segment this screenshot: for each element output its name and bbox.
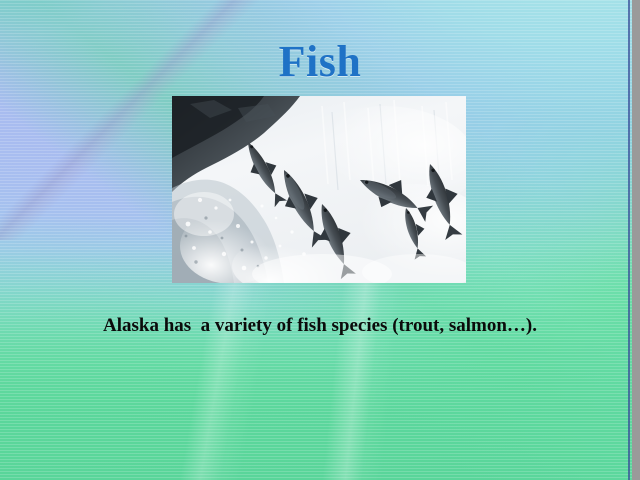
salmon-waterfall-illustration [172,96,466,283]
background-vertical-streaks [0,270,640,480]
slide-caption: Alaska has a variety of fish species (tr… [78,313,562,340]
fish-photo [172,96,466,283]
slide-title: Fish [0,36,640,87]
slide: Fish [0,0,640,480]
